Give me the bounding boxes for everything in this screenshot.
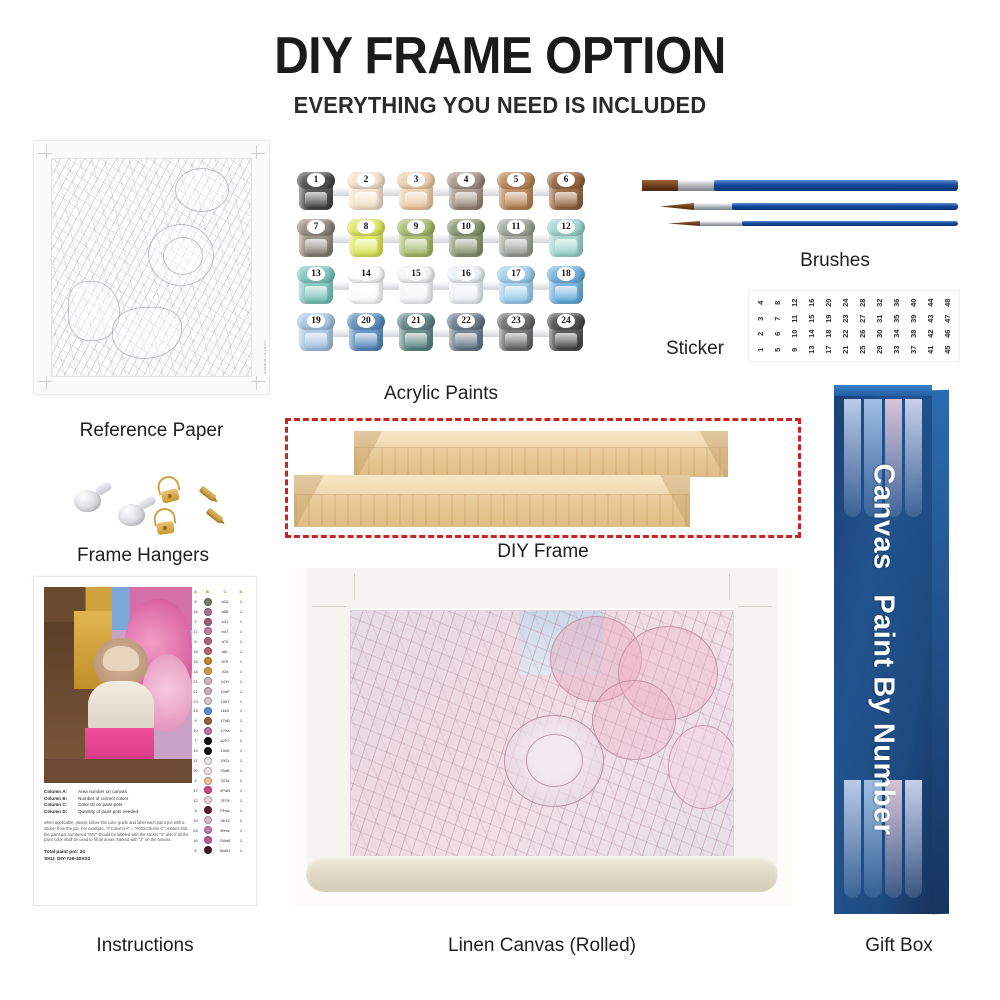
reference-paper-image: PAINT BY NUMBER <box>33 140 270 395</box>
legend-color-swatch <box>204 727 212 735</box>
legend-color-id: b31 <box>214 619 236 624</box>
sticker-number: 45 <box>940 341 956 358</box>
plastic-hanger-1 <box>74 490 101 512</box>
legend-row: 122FGf1 <box>190 796 248 805</box>
sticker-number: 41 <box>923 341 939 358</box>
legend-quantity: 1 <box>236 679 246 684</box>
legend-color-id: h2H <box>214 679 236 684</box>
brush-flat <box>642 180 958 191</box>
paint-pot-number: 21 <box>407 314 425 328</box>
paint-pot-20: 20 <box>346 313 386 353</box>
legend-color-id: s2P2 <box>214 738 236 743</box>
legend-quantity: 1 <box>236 768 246 773</box>
legend-color-id: 92a <box>214 669 236 674</box>
paint-pot-number: 8 <box>357 220 375 234</box>
sticker-number: 34 <box>889 325 905 342</box>
legend-area-number: 20 <box>190 768 201 773</box>
sticker-number: 43 <box>923 310 939 327</box>
sticker-number: 35 <box>889 310 905 327</box>
sticker-number: 13 <box>804 341 820 358</box>
paint-pot-number: 11 <box>507 220 525 234</box>
legend-row: 53bd511 <box>190 845 248 854</box>
sticker-number: 42 <box>923 325 939 342</box>
legend-quantity: 1 <box>236 848 246 853</box>
sticker-number: 39 <box>906 310 922 327</box>
legend-area-number: 24 <box>190 708 201 713</box>
paint-pot-23: 23 <box>496 313 536 353</box>
legend-color-swatch <box>204 796 212 804</box>
legend-area-number: 9 <box>190 718 201 723</box>
legend-color-swatch <box>204 747 212 755</box>
legend-row: 18a6L1 <box>190 647 248 656</box>
sticker-number: 9 <box>787 341 803 358</box>
legend-color-swatch <box>204 806 212 814</box>
paint-pot-number: 10 <box>457 220 475 234</box>
legend-quantity: 1 <box>236 649 246 654</box>
legend-color-id: 2FGf <box>214 798 236 803</box>
instructions-column-line: Column C:Color ID on paint pots <box>44 802 192 809</box>
sticker-number: 33 <box>889 341 905 358</box>
legend-color-swatch <box>204 657 212 665</box>
legend-color-swatch <box>204 846 212 854</box>
sticker-number: 37 <box>906 341 922 358</box>
paint-pot-connector <box>302 328 580 337</box>
sticker-number: 15 <box>804 310 820 327</box>
sticker-number: 4 <box>753 294 769 311</box>
legend-color-swatch <box>204 667 212 675</box>
total-paint-pot-value: 24 <box>80 850 85 855</box>
legend-row: 16a8B1 <box>190 607 248 616</box>
legend-header-row: A B C D <box>190 587 248 596</box>
paint-pot-7: 7 <box>296 219 336 259</box>
sticker-number: 8 <box>770 294 786 311</box>
legend-quantity: 1 <box>236 828 246 833</box>
d-ring-hanger-2 <box>152 507 177 536</box>
caption-reference-paper: Reference Paper <box>33 420 270 442</box>
legend-quantity: 1 <box>236 718 246 723</box>
legend-color-id: a70 <box>214 639 236 644</box>
sku-label: SKU: <box>44 857 56 862</box>
legend-color-swatch <box>204 608 212 616</box>
paint-pot-number: 20 <box>357 314 375 328</box>
legend-color-id: 17bB <box>214 718 236 723</box>
sticker-number: 23 <box>838 310 854 327</box>
sticker-number: 28 <box>855 294 871 311</box>
legend-color-id: 20Ta <box>214 778 236 783</box>
legend-row: 6a701 <box>190 637 248 646</box>
paint-pot-1: 1 <box>296 172 336 212</box>
legend-quantity: 1 <box>236 609 246 614</box>
paint-pot-number: 7 <box>307 220 325 234</box>
sticker-number: 38 <box>906 325 922 342</box>
legend-area-number: 22 <box>190 689 201 694</box>
instructions-paragraph: when applicable, please follow this colo… <box>44 820 192 842</box>
legend-color-swatch <box>204 786 212 794</box>
legend-row: 2210aF1 <box>190 686 248 695</box>
legend-color-id: a8B <box>214 609 236 614</box>
legend-row: 2025aB1 <box>190 766 248 775</box>
instructions-text-block: Column A:Area number on canvasColumn B:N… <box>44 789 192 863</box>
sticker-number: 47 <box>940 310 956 327</box>
caption-acrylic-paints: Acrylic Paints <box>296 383 586 405</box>
sticker-number: 25 <box>855 341 871 358</box>
paint-pot-3: 3 <box>396 172 436 212</box>
paint-pot-16: 16 <box>446 266 486 306</box>
legend-color-swatch <box>204 618 212 626</box>
legend-area-number: 6 <box>190 639 201 644</box>
legend-area-number: 2 <box>190 619 201 624</box>
paint-pot-row: 131415161718 <box>296 260 586 306</box>
reference-line-art <box>51 158 252 377</box>
legend-area-number: 4 <box>190 778 201 783</box>
legend-color-id: 2PdB <box>214 788 236 793</box>
sticker-number: 17 <box>821 341 837 358</box>
sticker-number: 7 <box>770 310 786 327</box>
paint-pot-number: 15 <box>407 267 425 281</box>
paint-pot-14: 14 <box>346 266 386 306</box>
sticker-number: 10 <box>787 325 803 342</box>
legend-quantity: 1 <box>236 629 246 634</box>
screw-2 <box>206 508 224 524</box>
legend-color-swatch <box>204 637 212 645</box>
gift-box-label: Canvas Paint By Number <box>834 385 932 914</box>
instructions-column-line: Column D:Quantity of paint pots needed <box>44 809 192 816</box>
legend-color-id: 10aF <box>214 689 236 694</box>
paint-pot-11: 11 <box>496 219 536 259</box>
paint-pot-12: 12 <box>546 219 586 259</box>
infographic-root: DIY FRAME OPTION EVERYTHING YOU NEED IS … <box>0 0 1000 1000</box>
legend-color-swatch <box>204 767 212 775</box>
caption-sticker: Sticker <box>640 338 750 360</box>
paint-pot-row: 789101112 <box>296 213 586 259</box>
legend-row: 2b311 <box>190 617 248 626</box>
paint-pot-connector <box>302 187 580 196</box>
legend-color-id: b47 <box>214 629 236 634</box>
legend-area-number: 10 <box>190 728 201 733</box>
legend-color-swatch <box>204 627 212 635</box>
paint-pot-22: 22 <box>446 313 486 353</box>
sticker-number: 29 <box>872 341 888 358</box>
legend-color-id: 1kkS <box>214 708 236 713</box>
sticker-number: 26 <box>855 325 871 342</box>
legend-color-swatch <box>204 737 212 745</box>
paint-pot-24: 24 <box>546 313 586 353</box>
legend-color-swatch <box>204 677 212 685</box>
legend-area-number: 23 <box>190 699 201 704</box>
legend-quantity: 1 <box>236 619 246 624</box>
caption-gift-box: Gift Box <box>834 935 964 957</box>
paint-pot-row: 123456 <box>296 166 586 212</box>
caption-instructions: Instructions <box>33 935 257 957</box>
legend-row: 17b471 <box>190 627 248 636</box>
legend-area-number: 19 <box>190 748 201 753</box>
paint-pot-4: 4 <box>446 172 486 212</box>
paint-pot-number: 6 <box>557 173 575 187</box>
legend-color-swatch <box>204 697 212 705</box>
sticker-number: 3 <box>753 310 769 327</box>
acrylic-paints-image: 123456789101112131415161718192021222324 <box>296 166 586 360</box>
legend-color-swatch <box>204 687 212 695</box>
sticker-number: 32 <box>872 294 888 311</box>
paint-pot-connector <box>302 281 580 290</box>
legend-row: 23136T1 <box>190 696 248 705</box>
legend-color-swatch <box>204 707 212 715</box>
brush-liner-fine <box>668 221 958 226</box>
sticker-number: 30 <box>872 325 888 342</box>
instructions-column-line: Column B:Number of correct colors <box>44 796 192 803</box>
legend-color-id: 3bd51 <box>214 848 236 853</box>
page-title: DIY FRAME OPTION <box>40 26 960 86</box>
legend-area-number: 14 <box>190 669 201 674</box>
paint-pot-13: 13 <box>296 266 336 306</box>
paint-pot-19: 19 <box>296 313 336 353</box>
paint-pot-number: 17 <box>507 267 525 281</box>
legend-color-id: 39mz <box>214 828 236 833</box>
legend-row: 8a2A1 <box>190 597 248 606</box>
paint-pot-number: 13 <box>307 267 325 281</box>
legend-quantity: 1 <box>236 798 246 803</box>
paint-pot-9: 9 <box>396 219 436 259</box>
legend-quantity: 1 <box>236 748 246 753</box>
sticker-number: 19 <box>821 310 837 327</box>
canvas-rolled-edge <box>306 856 778 892</box>
sticker-number: 21 <box>838 341 854 358</box>
caption-diy-frame: DIY Frame <box>285 541 801 563</box>
legend-row: 191hh61 <box>190 746 248 755</box>
legend-row: 21h2H1 <box>190 676 248 685</box>
paint-pot-number: 14 <box>357 267 375 281</box>
paint-pot-number: 23 <box>507 314 525 328</box>
legend-row: 1387K1 <box>190 657 248 666</box>
paint-pot-number: 18 <box>557 267 575 281</box>
paint-pot-number: 4 <box>457 173 475 187</box>
legend-color-id: PHdc <box>214 808 236 813</box>
legend-header-b: B <box>201 589 214 594</box>
legend-row: 241kkS1 <box>190 706 248 715</box>
sticker-number: 14 <box>804 325 820 342</box>
sticker-number: 36 <box>889 294 905 311</box>
brushes-image <box>620 178 960 240</box>
canvas-line-art <box>350 610 734 860</box>
legend-color-id: 17ba <box>214 728 236 733</box>
legend-color-swatch <box>204 816 212 824</box>
sticker-number: 16 <box>804 294 820 311</box>
legend-area-number: 7 <box>190 738 201 743</box>
caption-frame-hangers: Frame Hangers <box>33 545 253 567</box>
legend-quantity: 1 <box>236 689 246 694</box>
paint-pot-21: 21 <box>396 313 436 353</box>
paint-pot-number: 22 <box>457 314 475 328</box>
sticker-number: 2 <box>753 325 769 342</box>
brush-round-medium <box>660 203 958 210</box>
legend-area-number: 18 <box>190 649 201 654</box>
sticker-number: 22 <box>838 325 854 342</box>
legend-quantity: 1 <box>236 669 246 674</box>
paint-pot-15: 15 <box>396 266 436 306</box>
paint-pot-18: 18 <box>546 266 586 306</box>
legend-color-swatch <box>204 717 212 725</box>
sticker-number: 40 <box>906 294 922 311</box>
legend-row: 1017ba1 <box>190 726 248 735</box>
sticker-number: 18 <box>821 325 837 342</box>
legend-header-c: C <box>214 589 236 594</box>
paint-pot-6: 6 <box>546 172 586 212</box>
legend-color-id: 2Wa5 <box>214 838 236 843</box>
linen-canvas-image <box>292 568 792 906</box>
paint-pot-number: 9 <box>407 220 425 234</box>
sku-value: DIY-729-40XS2 <box>57 857 90 862</box>
legend-color-id: 136T <box>214 699 236 704</box>
legend-color-swatch <box>204 777 212 785</box>
caption-linen-canvas: Linen Canvas (Rolled) <box>292 935 792 957</box>
legend-quantity: 1 <box>236 838 246 843</box>
gift-box-line1: Canvas <box>868 464 900 570</box>
paint-pot-5: 5 <box>496 172 536 212</box>
legend-quantity: 1 <box>236 599 246 604</box>
paint-pot-number: 16 <box>457 267 475 281</box>
legend-row: 917bB1 <box>190 716 248 725</box>
screw-1 <box>199 486 217 502</box>
legend-row: 172PdB1 <box>190 786 248 795</box>
sticker-number: 46 <box>940 325 956 342</box>
legend-quantity: 1 <box>236 818 246 823</box>
legend-area-number: 17 <box>190 629 201 634</box>
legend-color-id: 3b13 <box>214 818 236 823</box>
sticker-number: 31 <box>872 310 888 327</box>
legend-quantity: 1 <box>236 639 246 644</box>
legend-color-id: 25aB <box>214 768 236 773</box>
legend-area-number: 11 <box>190 758 201 763</box>
instructions-column-line: Column A:Area number on canvas <box>44 789 192 796</box>
sticker-number: 11 <box>787 310 803 327</box>
legend-color-id: 87K <box>214 659 236 664</box>
legend-color-id: 19GL <box>214 758 236 763</box>
legend-row: 153b131 <box>190 816 248 825</box>
legend-quantity: 1 <box>236 699 246 704</box>
legend-header-d: D <box>236 589 246 594</box>
legend-color-id: a6L <box>214 649 236 654</box>
sticker-number: 48 <box>940 294 956 311</box>
legend-row: 2539mz1 <box>190 826 248 835</box>
legend-quantity: 1 <box>236 788 246 793</box>
paint-pot-number: 19 <box>307 314 325 328</box>
sticker-number: 44 <box>923 294 939 311</box>
sticker-number: 24 <box>838 294 854 311</box>
paint-pot-8: 8 <box>346 219 386 259</box>
sticker-number: 5 <box>770 341 786 358</box>
sticker-sheet-image: 4812162024283236404448371115192327313539… <box>748 290 960 362</box>
legend-quantity: 1 <box>236 728 246 733</box>
legend-area-number: 13 <box>190 659 201 664</box>
legend-color-swatch <box>204 757 212 765</box>
stretcher-bar-top <box>354 431 728 477</box>
total-paint-pot-label: Total paint pot: <box>44 850 78 855</box>
legend-quantity: 1 <box>236 708 246 713</box>
sticker-number: 20 <box>821 294 837 311</box>
legend-quantity: 1 <box>236 659 246 664</box>
legend-row: 7s2P21 <box>190 736 248 745</box>
instructions-artwork-preview <box>44 587 192 783</box>
legend-color-swatch <box>204 836 212 844</box>
legend-area-number: 16 <box>190 609 201 614</box>
sticker-number: 6 <box>770 325 786 342</box>
instructions-color-legend: A B C D 8a2A116a8B12b31117b4716a70118a6L… <box>190 587 248 855</box>
gift-box-image: Canvas Paint By Number <box>834 385 949 914</box>
reference-paper-side-note: PAINT BY NUMBER <box>263 341 267 374</box>
paint-pot-number: 5 <box>507 173 525 187</box>
legend-color-swatch <box>204 826 212 834</box>
legend-color-id: 1hh6 <box>214 748 236 753</box>
sticker-number: 12 <box>787 294 803 311</box>
legend-row: 3PHdc1 <box>190 806 248 815</box>
plastic-hanger-2 <box>118 504 145 526</box>
instructions-sheet-image: A B C D 8a2A116a8B12b31117b4716a70118a6L… <box>33 576 257 906</box>
paint-pot-number: 1 <box>307 173 325 187</box>
caption-brushes: Brushes <box>760 250 910 272</box>
legend-row: 1492a1 <box>190 667 248 676</box>
legend-row: 1119GL1 <box>190 756 248 765</box>
legend-area-number: 21 <box>190 679 201 684</box>
paint-pot-row: 192021222324 <box>296 307 586 353</box>
instructions-totals: Total paint pot: 24 SKU: DIY-729-40XS2 <box>44 849 192 863</box>
d-ring-hanger-1 <box>155 474 183 505</box>
paint-pot-number: 2 <box>357 173 375 187</box>
legend-color-id: a2A <box>214 599 236 604</box>
diy-frame-image <box>285 418 801 538</box>
frame-hangers-image <box>60 468 235 538</box>
paint-pot-connector <box>302 234 580 243</box>
paint-pot-number: 12 <box>557 220 575 234</box>
sticker-number: 1 <box>753 341 769 358</box>
legend-color-swatch <box>204 598 212 606</box>
legend-quantity: 1 <box>236 808 246 813</box>
paint-pot-number: 3 <box>407 173 425 187</box>
legend-color-swatch <box>204 647 212 655</box>
legend-row: 162Wa51 <box>190 835 248 844</box>
paint-pot-10: 10 <box>446 219 486 259</box>
paint-pot-17: 17 <box>496 266 536 306</box>
paint-pot-2: 2 <box>346 172 386 212</box>
gift-box-line2: Paint By Number <box>868 594 900 835</box>
legend-quantity: 1 <box>236 758 246 763</box>
paint-pot-number: 24 <box>557 314 575 328</box>
legend-header-a: A <box>190 589 201 594</box>
legend-row: 420Ta1 <box>190 776 248 785</box>
legend-area-number: 8 <box>190 599 201 604</box>
page-subtitle: EVERYTHING YOU NEED IS INCLUDED <box>25 92 975 119</box>
legend-quantity: 1 <box>236 778 246 783</box>
stretcher-bar-bottom <box>294 475 690 527</box>
legend-quantity: 1 <box>236 738 246 743</box>
sticker-number: 27 <box>855 310 871 327</box>
